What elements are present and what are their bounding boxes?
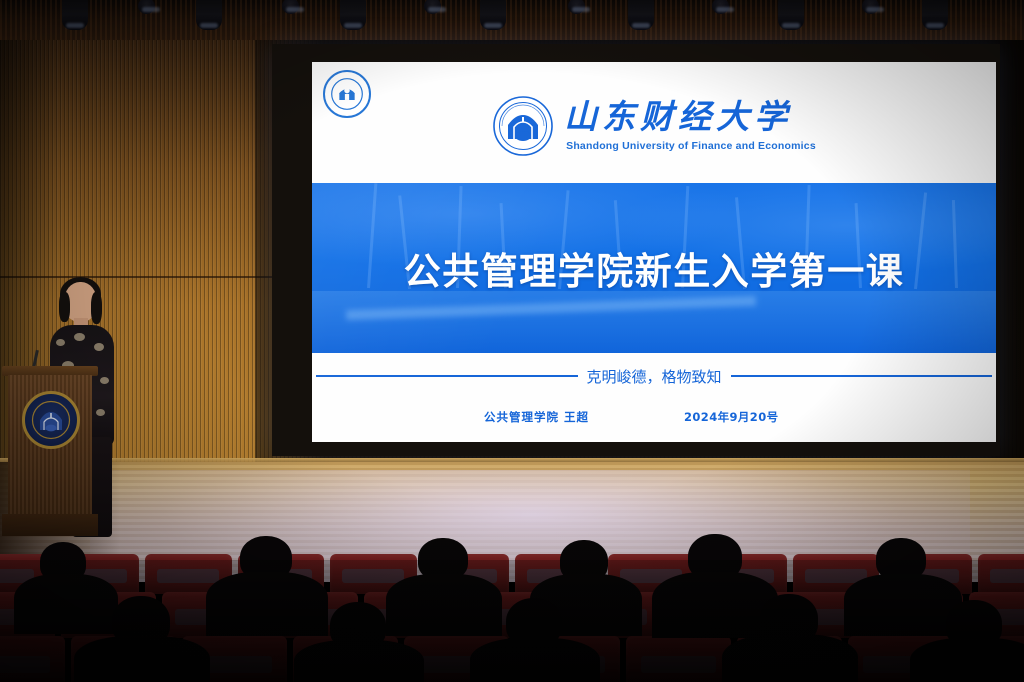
audience-member: [74, 636, 210, 682]
stage-light: [778, 0, 804, 30]
audience-member: [470, 638, 600, 682]
stage-light: [922, 0, 948, 30]
presentation-slide: 山东财经大学 Shandong University of Finance an…: [312, 62, 996, 442]
stage-light: [480, 0, 506, 30]
podium-body: [8, 375, 92, 515]
stage-light: [424, 0, 441, 14]
stage-light: [862, 0, 879, 14]
slide-title: 公共管理学院新生入学第一课: [312, 183, 996, 353]
audience-member: [844, 574, 962, 636]
audience-member: [910, 638, 1024, 682]
slide-header: 山东财经大学 Shandong University of Finance an…: [312, 62, 996, 183]
auditorium-seat: [0, 636, 65, 682]
audience-member: [386, 574, 502, 636]
footer-presenter: 公共管理学院 王超: [484, 409, 589, 425]
stage-light: [138, 0, 155, 14]
stage-light: [282, 0, 299, 14]
shandong-ufe-seal-icon: [492, 95, 554, 157]
university-name-cn: 山东财经大学: [564, 100, 792, 135]
stage-light: [340, 0, 366, 30]
audience-member: [294, 640, 424, 682]
slide-hero-band: 公共管理学院新生入学第一课: [312, 183, 996, 353]
stage-light: [62, 0, 88, 30]
slide-motto-row: 克明峻德，格物致知: [312, 353, 996, 399]
slide-footer: 公共管理学院 王超 2024年9月20号: [312, 399, 996, 442]
stage-light: [628, 0, 654, 30]
audience-member: [14, 574, 118, 634]
auditorium-seat: [978, 554, 1024, 594]
podium-base: [2, 514, 98, 536]
presenter-hair-side: [91, 292, 102, 324]
audience-member: [206, 572, 328, 636]
university-name-block: 山东财经大学 Shandong University of Finance an…: [564, 100, 816, 152]
motto-rule-right: [731, 375, 993, 377]
university-name-en: Shandong University of Finance and Econo…: [566, 140, 816, 152]
stage-light: [712, 0, 729, 14]
slide-motto: 克明峻德，格物致知: [578, 366, 731, 387]
stage-light: [568, 0, 585, 14]
auditorium-seat: [626, 636, 731, 682]
audience-member: [652, 572, 778, 638]
audience-member: [722, 634, 858, 682]
university-branding: 山东财经大学 Shandong University of Finance an…: [312, 86, 996, 166]
audience-seating: [0, 540, 1024, 682]
auditorium-scene: 山东财经大学 Shandong University of Finance an…: [0, 0, 1024, 682]
podium: [4, 366, 94, 536]
stage-light: [196, 0, 222, 30]
footer-date: 2024年9月20号: [684, 409, 779, 425]
university-seal-icon: [22, 391, 80, 449]
motto-rule-left: [316, 375, 578, 377]
presenter-hair-side: [59, 292, 70, 322]
